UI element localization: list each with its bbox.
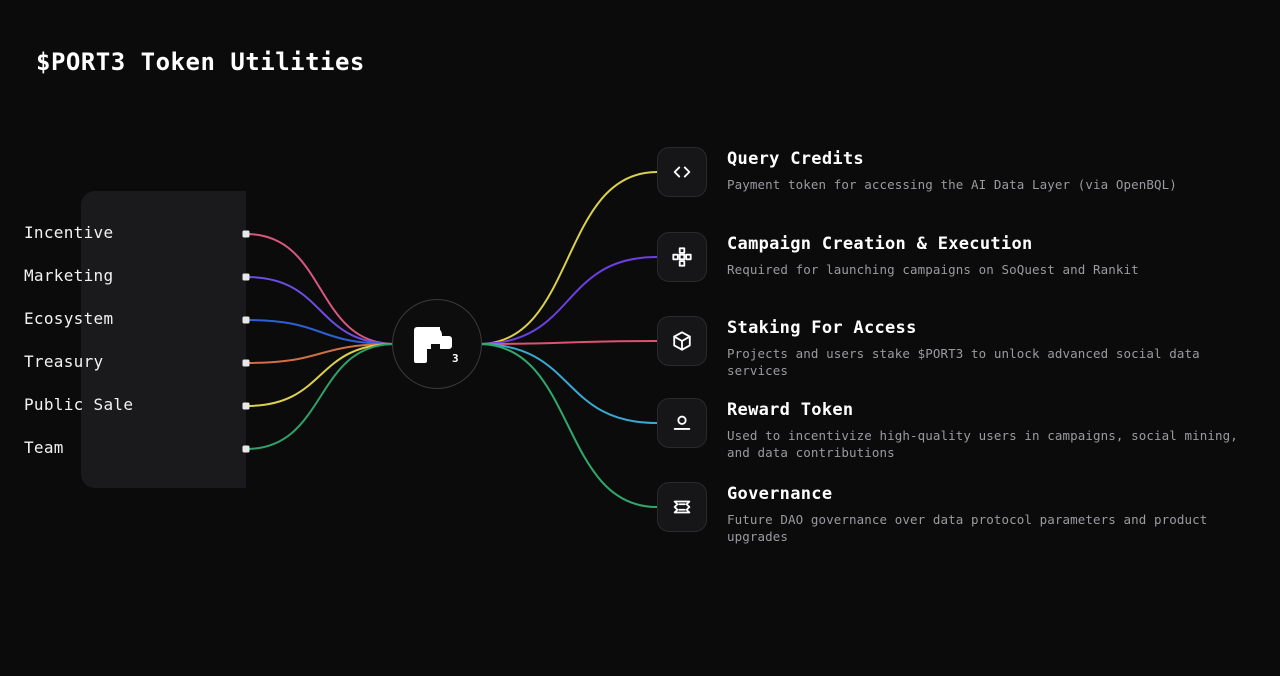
connector-source-team	[246, 344, 395, 449]
source-item-ecosystem[interactable]: Ecosystem	[24, 309, 113, 328]
utility-description: Used to incentivize high-quality users i…	[727, 427, 1247, 461]
cube-icon	[671, 330, 693, 352]
utility-icon-container	[657, 482, 707, 532]
utility-description: Projects and users stake $PORT3 to unloc…	[727, 345, 1247, 379]
connector-utility-staking-for-access	[479, 341, 657, 344]
award-medal-icon	[671, 412, 693, 434]
code-brackets-icon	[671, 161, 693, 183]
source-item-label: Incentive	[24, 223, 113, 242]
connector-utility-query-credits	[479, 172, 657, 344]
connector-source-public-sale	[246, 344, 395, 406]
utility-row-campaign-creation-execution[interactable]: Campaign Creation & ExecutionRequired fo…	[657, 232, 1139, 282]
connector-utility-reward-token	[479, 344, 657, 423]
source-item-treasury[interactable]: Treasury	[24, 352, 103, 371]
source-item-label: Marketing	[24, 266, 113, 285]
utility-title: Campaign Creation & Execution	[727, 233, 1139, 255]
utility-row-reward-token[interactable]: Reward TokenUsed to incentivize high-qua…	[657, 398, 1247, 461]
connector-utility-governance	[479, 344, 657, 507]
svg-text:3: 3	[452, 352, 459, 365]
ballot-ticket-icon	[671, 496, 693, 518]
connector-utility-campaign-creation-execution	[479, 257, 657, 344]
utility-text-block: Staking For AccessProjects and users sta…	[727, 316, 1247, 379]
utility-icon-container	[657, 316, 707, 366]
utility-text-block: Query CreditsPayment token for accessing…	[727, 147, 1177, 193]
utility-row-staking-for-access[interactable]: Staking For AccessProjects and users sta…	[657, 316, 1247, 379]
utility-title: Query Credits	[727, 148, 1177, 170]
source-item-incentive[interactable]: Incentive	[24, 223, 113, 242]
utility-icon-container	[657, 232, 707, 282]
source-item-public-sale[interactable]: Public Sale	[24, 395, 133, 414]
source-item-label: Ecosystem	[24, 309, 113, 328]
source-item-label: Public Sale	[24, 395, 133, 414]
connector-source-ecosystem	[246, 320, 395, 344]
connector-source-incentive	[246, 234, 395, 344]
utility-row-governance[interactable]: GovernanceFuture DAO governance over dat…	[657, 482, 1247, 545]
source-item-label: Team	[24, 438, 64, 457]
utility-text-block: GovernanceFuture DAO governance over dat…	[727, 482, 1247, 545]
port3-logo-icon: 3	[411, 321, 463, 367]
page-title: $PORT3 Token Utilities	[36, 48, 365, 76]
source-item-team[interactable]: Team	[24, 438, 64, 457]
utility-icon-container	[657, 398, 707, 448]
utility-title: Governance	[727, 483, 1247, 505]
connector-source-treasury	[246, 344, 395, 363]
campaign-nodes-icon	[671, 246, 693, 268]
utility-description: Required for launching campaigns on SoQu…	[727, 261, 1139, 278]
utility-text-block: Campaign Creation & ExecutionRequired fo…	[727, 232, 1139, 278]
utility-description: Payment token for accessing the AI Data …	[727, 176, 1177, 193]
utility-row-query-credits[interactable]: Query CreditsPayment token for accessing…	[657, 147, 1177, 197]
center-hub: 3	[392, 299, 482, 389]
utility-description: Future DAO governance over data protocol…	[727, 511, 1247, 545]
source-item-marketing[interactable]: Marketing	[24, 266, 113, 285]
utility-text-block: Reward TokenUsed to incentivize high-qua…	[727, 398, 1247, 461]
utility-title: Staking For Access	[727, 317, 1247, 339]
utility-title: Reward Token	[727, 399, 1247, 421]
connector-source-marketing	[246, 277, 395, 344]
source-item-label: Treasury	[24, 352, 103, 371]
utility-icon-container	[657, 147, 707, 197]
